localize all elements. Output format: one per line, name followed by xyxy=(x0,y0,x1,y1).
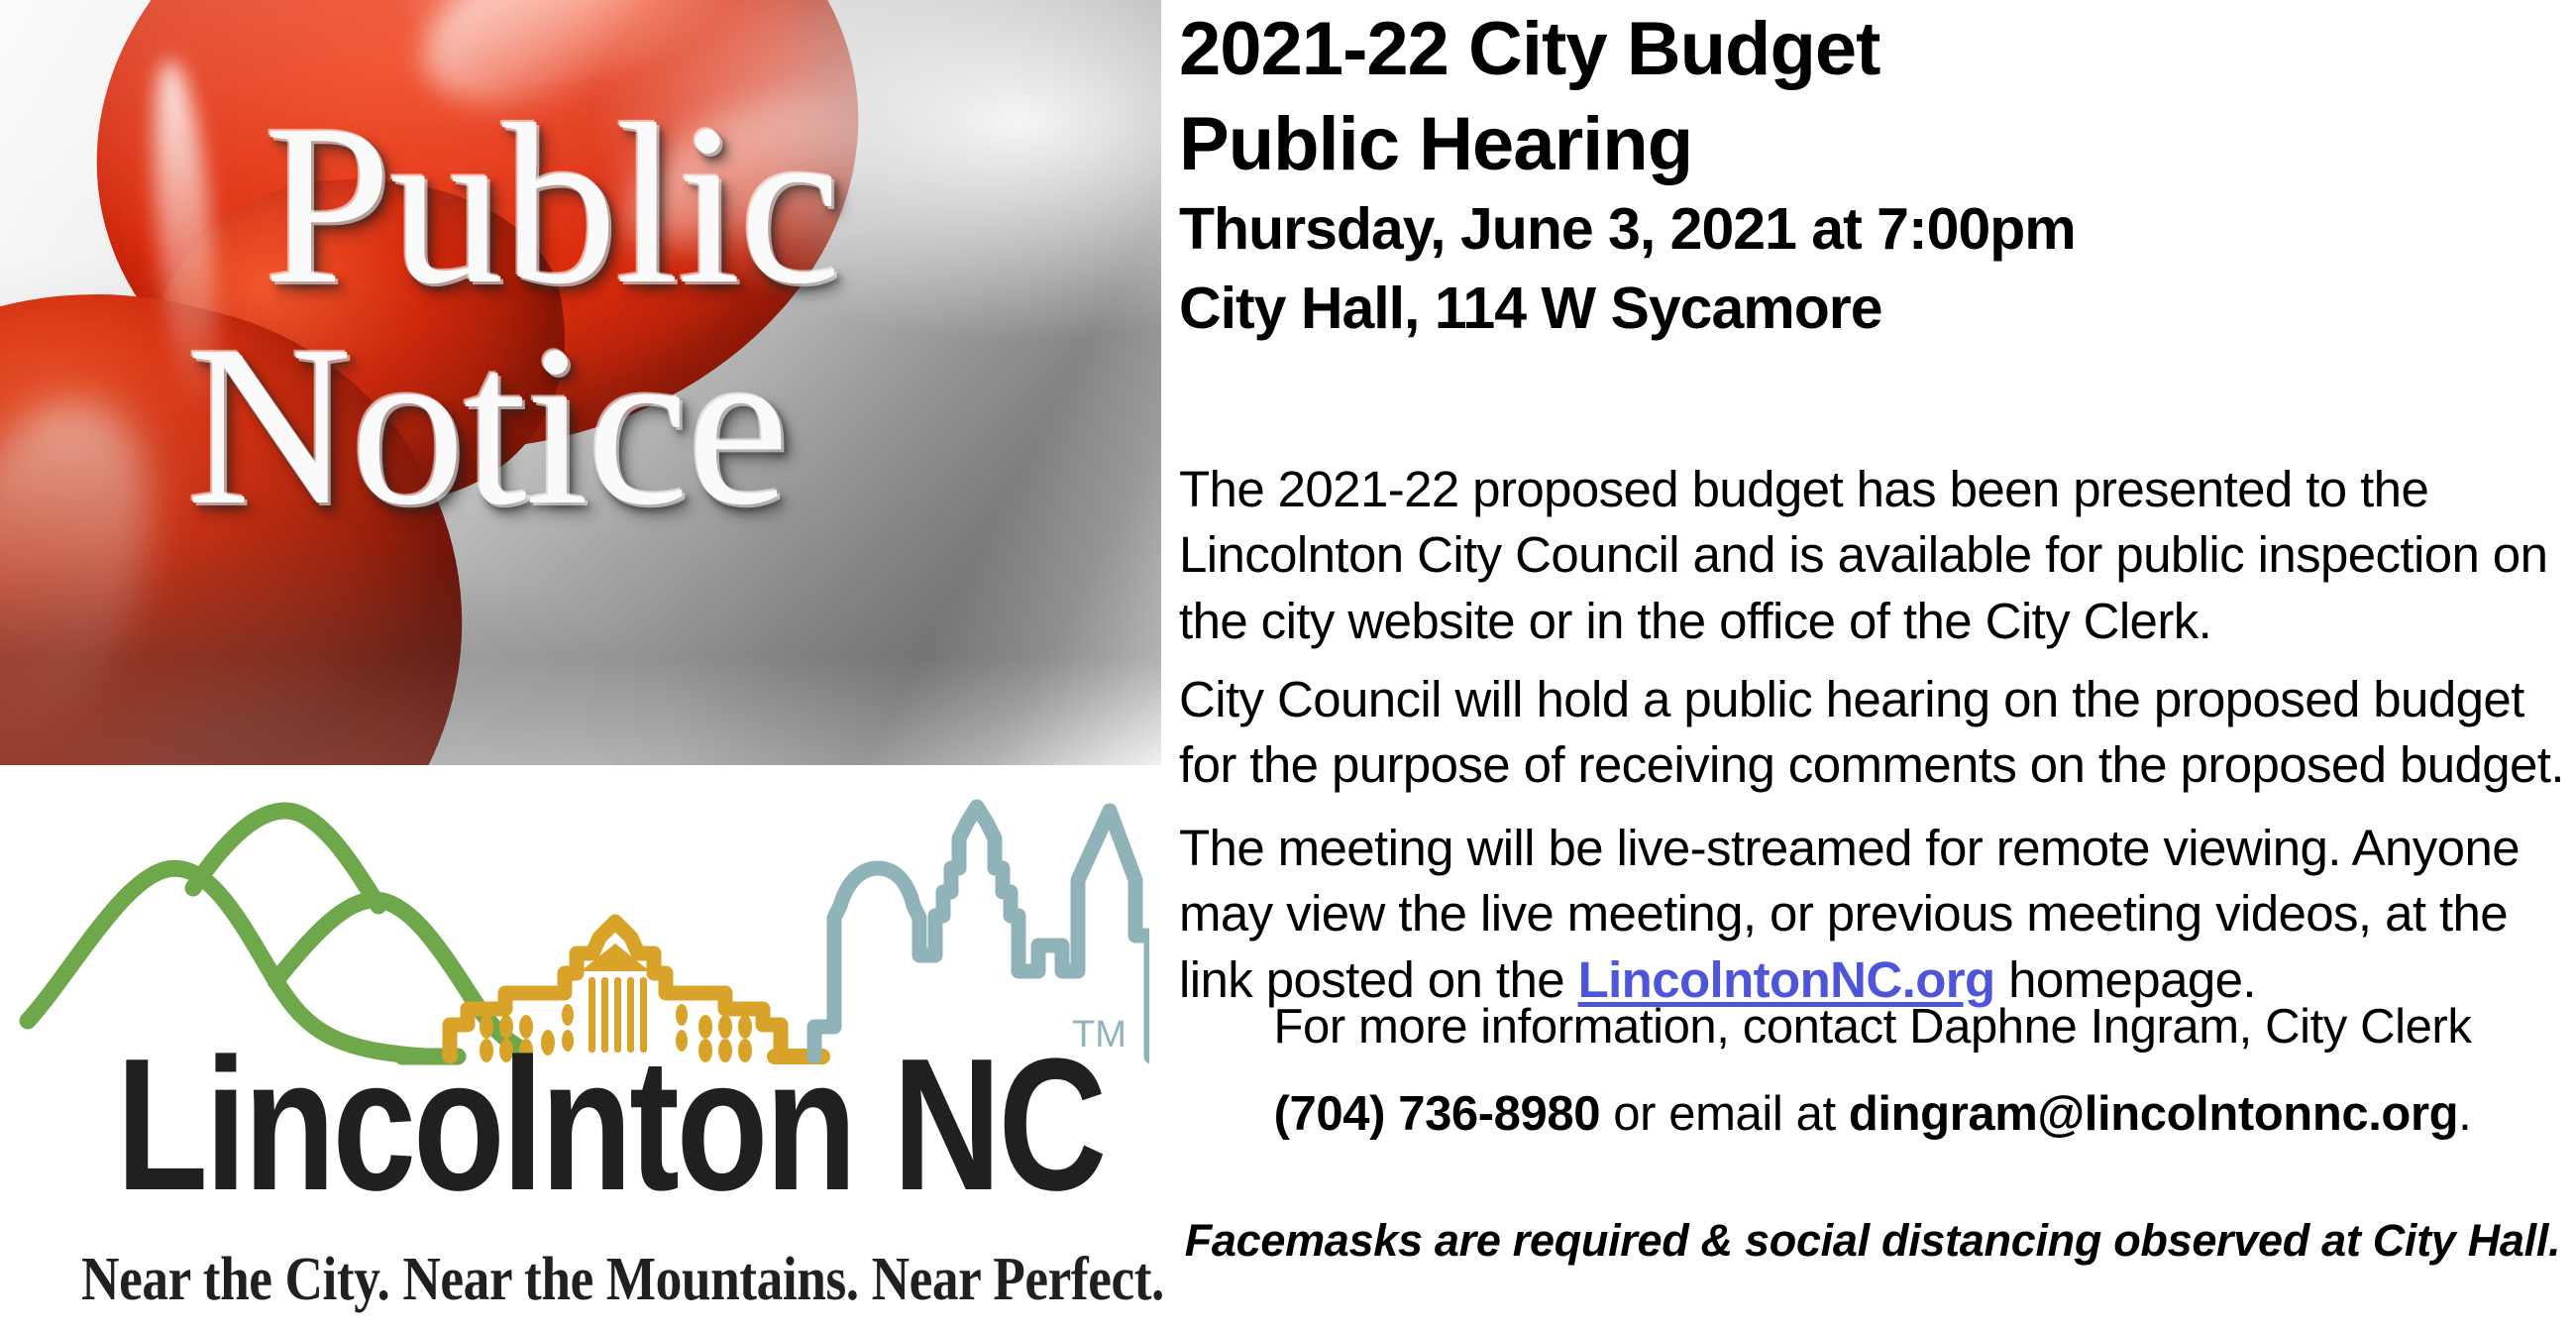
contact-period: . xyxy=(2458,1087,2471,1141)
logo-tagline: Near the City. Near the Mountains. Near … xyxy=(81,1245,1080,1315)
logo-wordmark: Lincolnton NC xyxy=(116,1031,1045,1219)
gradient-sheen xyxy=(0,0,1161,765)
lincolnton-nc-logo: TM Lincolnton NC Near the City. Near the… xyxy=(0,765,1161,1333)
contact-phone[interactable]: (704) 736-8980 xyxy=(1274,1087,1600,1141)
headline-location: City Hall, 114 W Sycamore xyxy=(1179,279,1882,338)
headline-budget: 2021-22 City Budget xyxy=(1179,12,1879,87)
contact-email[interactable]: dingram@lincolntonnc.org xyxy=(1849,1087,2458,1141)
paragraph-public-hearing: City Council will hold a public hearing … xyxy=(1179,667,2566,799)
headline-public-hearing: Public Hearing xyxy=(1179,107,1692,182)
left-column: Public Notice xyxy=(0,0,1161,1333)
contact-middle-text: or email at xyxy=(1600,1087,1849,1141)
notice-text-column: 2021-22 City Budget Public Hearing Thurs… xyxy=(1179,0,2566,1333)
facemask-notice: Facemasks are required & social distanci… xyxy=(1179,1215,2566,1267)
paragraph-budget-presented: The 2021-22 proposed budget has been pre… xyxy=(1179,457,2566,654)
contact-details-line: (704) 736-8980 or email at dingram@linco… xyxy=(1179,1086,2566,1142)
headline-datetime: Thursday, June 3, 2021 at 7:00pm xyxy=(1179,200,2076,259)
public-notice-graphic: Public Notice xyxy=(0,0,1161,765)
public-notice-page: Public Notice xyxy=(0,0,2576,1333)
contact-intro-line: For more information, contact Daphne Ing… xyxy=(1179,999,2566,1055)
paragraph-livestream: The meeting will be live-streamed for re… xyxy=(1179,816,2566,1013)
